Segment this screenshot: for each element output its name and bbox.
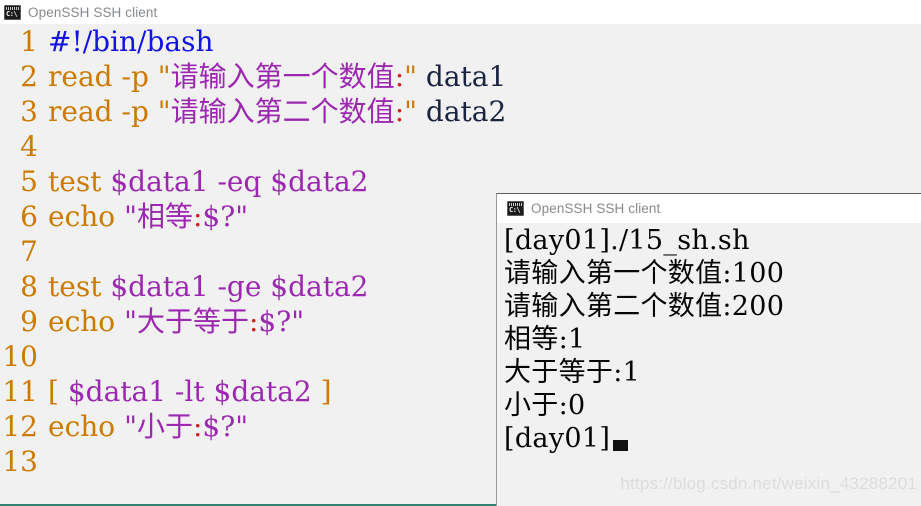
line-number: 9 [0,304,48,339]
code-token-var: $data1 -lt $data2 [68,375,312,408]
code-line-text: read -p "请输入第一个数值:" data1 [48,59,506,94]
terminal-output-line: [day01]./15_sh.sh [504,224,921,257]
code-token-plain: data1 [417,60,506,93]
code-token-str: $?" [202,410,248,443]
terminal-output-line: 小于:0 [504,389,921,422]
code-token-str: $?" [258,305,304,338]
code-line[interactable]: 2read -p "请输入第一个数值:" data1 [0,59,921,94]
line-number: 5 [0,164,48,199]
line-number: 6 [0,199,48,234]
code-line-text: test $data1 -eq $data2 [48,164,369,199]
code-token-str: "相等 [124,200,193,233]
code-token-colon: : [395,95,404,128]
code-line[interactable]: 1#!/bin/bash [0,24,921,59]
line-number: 8 [0,269,48,304]
code-token-plain: data2 [417,95,506,128]
code-token-plain [115,200,124,233]
code-line-text: #!/bin/bash [48,24,214,59]
line-number: 3 [0,94,48,129]
line-number: 4 [0,129,48,164]
console-icon-glyph: C:\ [509,206,520,214]
watermark: https://blog.csdn.net/weixin_43288201 [620,474,917,494]
console-icon: C:\ [4,5,21,20]
code-token-str: $?" [202,200,248,233]
code-token-plain [115,410,124,443]
code-token-shebang: #!/bin/bash [48,25,214,58]
terminal-prompt: [day01] [504,422,610,455]
code-token-kw: read [48,95,113,128]
code-token-var: $data1 -eq $data2 [110,165,368,198]
code-token-plain [59,375,68,408]
code-token-str: "小于 [124,410,193,443]
code-token-colon: : [193,410,202,443]
code-token-plain [149,60,158,93]
terminal-window: C:\ OpenSSH SSH client [day01]./15_sh.sh… [496,193,921,506]
code-line-text: echo "大于等于:$?" [48,304,304,339]
code-token-var: $data1 -ge $data2 [110,270,368,303]
line-number: 11 [0,374,48,409]
editor-titlebar: C:\ OpenSSH SSH client [0,0,921,24]
code-token-str: "大于等于 [124,305,249,338]
code-line-text: read -p "请输入第二个数值:" data2 [48,94,506,129]
code-token-plain [312,375,321,408]
console-icon-glyph: C:\ [6,10,17,18]
code-token-kw: read [48,60,113,93]
terminal-titlebar: C:\ OpenSSH SSH client [497,194,921,223]
line-number: 7 [0,234,48,269]
code-token-kw: echo [48,200,115,233]
code-token-kw: -p [121,60,148,93]
line-number: 10 [0,339,48,374]
code-line-text: echo "小于:$?" [48,409,248,444]
terminal-prompt-line[interactable]: [day01] [504,422,921,455]
code-line-text: test $data1 -ge $data2 [48,269,369,304]
editor-window-title: OpenSSH SSH client [28,5,157,20]
code-token-colon: : [249,305,258,338]
code-line[interactable]: 4 [0,129,921,164]
code-token-kw: " [404,95,417,128]
code-token-kw: echo [48,305,115,338]
code-line-text: [ $data1 -lt $data2 ] [48,374,332,409]
block-cursor [613,440,628,451]
code-token-kw: " [158,60,171,93]
line-number: 13 [0,444,48,479]
code-token-str: 请输入第二个数值 [171,95,395,128]
code-line-text: echo "相等:$?" [48,199,248,234]
code-token-plain [149,95,158,128]
code-token-colon: : [193,200,202,233]
terminal-output-line: 相等:1 [504,323,921,356]
line-number: 1 [0,24,48,59]
code-token-colon: : [395,60,404,93]
line-number: 12 [0,409,48,444]
terminal-window-title: OpenSSH SSH client [531,201,660,216]
code-token-kw: " [404,60,417,93]
code-token-kw: test [48,270,101,303]
code-token-str: 请输入第一个数值 [171,60,395,93]
code-token-plain [115,305,124,338]
terminal-output-line: 大于等于:1 [504,356,921,389]
code-token-brk: [ [48,375,59,408]
code-token-kw: -p [121,95,148,128]
terminal-output-area[interactable]: [day01]./15_sh.sh请输入第一个数值:100请输入第二个数值:20… [497,224,921,506]
line-number: 2 [0,59,48,94]
code-line[interactable]: 3read -p "请输入第二个数值:" data2 [0,94,921,129]
code-token-kw: test [48,165,101,198]
terminal-output-line: 请输入第一个数值:100 [504,257,921,290]
code-token-brk: ] [321,375,332,408]
code-token-kw: " [158,95,171,128]
terminal-output-line: 请输入第二个数值:200 [504,290,921,323]
code-token-kw: echo [48,410,115,443]
console-icon: C:\ [507,201,524,216]
